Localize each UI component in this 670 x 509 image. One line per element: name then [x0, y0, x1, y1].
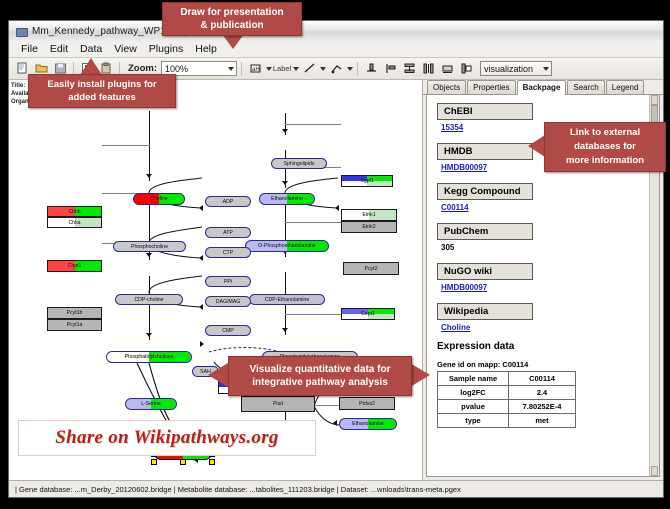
- node-label: CTP: [223, 250, 233, 256]
- arrow-icon: [200, 341, 204, 347]
- scroll-down-arrow[interactable]: [651, 466, 658, 476]
- db-link-kegg[interactable]: C00114: [441, 203, 659, 212]
- stack-vertical-icon[interactable]: [400, 60, 418, 78]
- metabolite-l-serine-left[interactable]: L-Serine: [125, 398, 177, 410]
- metabolite-phosphocholine[interactable]: Phosphocholine: [113, 241, 186, 252]
- menu-item-data[interactable]: Data: [74, 42, 108, 56]
- metabolite-adp[interactable]: ADP: [205, 196, 251, 207]
- db-header-wikipedia: Wikipedia: [437, 303, 533, 320]
- callout-arrow-left-icon: [208, 363, 228, 387]
- node-label: L-Serine: [141, 401, 161, 407]
- arrow-icon: [199, 205, 203, 211]
- db-value-pubchem: 305: [441, 243, 659, 252]
- zoom-label: Zoom:: [128, 63, 157, 74]
- selection-handle-s[interactable]: [180, 459, 186, 465]
- callout-arrow-left-icon: [528, 135, 545, 157]
- metabolite-dag-mag[interactable]: DAG/MAG: [205, 296, 251, 307]
- callout-line1: Easily install plugins for: [47, 78, 156, 91]
- menu-bar: File Edit Data View Plugins Help: [9, 41, 663, 58]
- node-label: Pcyt1a: [67, 322, 83, 328]
- arrow-icon: [199, 255, 203, 261]
- metabolite-ethanolamine-top[interactable]: Ethanolamine: [259, 193, 315, 205]
- status-text: | Gene database: ...m_Derby_20120602.bri…: [15, 485, 461, 494]
- chevron-down-icon[interactable]: [266, 67, 272, 71]
- node-label: Pcyt1b: [67, 310, 83, 316]
- node-label: Phosphatidylcholines: [125, 354, 174, 360]
- metabolite-ppi[interactable]: PPi: [205, 276, 251, 287]
- node-label: Sgpl1: [360, 178, 373, 184]
- metabolite-o-phosphoethanolamine[interactable]: O-Phosphoethanolamine: [245, 240, 329, 252]
- node-label: Etnk2: [362, 224, 375, 230]
- node-label: Ethanolamine: [352, 421, 384, 427]
- expr-value-sample-name: C00114: [509, 372, 576, 386]
- node-label: Phosphocholine: [131, 244, 168, 250]
- db-link-wikipedia[interactable]: Choline: [441, 323, 659, 332]
- label-icon-text: Label: [273, 64, 291, 73]
- db-header-hmdb: HMDB: [437, 143, 533, 160]
- callout-share-on-wikipathways: Share on Wikipathways.org: [18, 420, 316, 456]
- expr-label-sample-name: Sample name: [438, 372, 509, 386]
- chevron-down-icon: [228, 67, 234, 71]
- gene-sgpl1[interactable]: Sgpl1: [341, 175, 393, 187]
- node-label: Sphingolipids: [284, 161, 315, 167]
- gene-pcyt1b[interactable]: Pcyt1b: [47, 307, 102, 319]
- menu-item-edit[interactable]: Edit: [44, 42, 74, 56]
- callout-line3: more information: [566, 154, 644, 168]
- share-text: Share on Wikipathways.org: [55, 427, 278, 449]
- toolbar-separator: [241, 62, 242, 76]
- metabolite-cdp-ethanolamine[interactable]: CDP-Ethanolamine: [249, 294, 325, 305]
- gene-cept1[interactable]: Cept1: [341, 308, 395, 320]
- order-icon[interactable]: [457, 60, 475, 78]
- zoom-value: 100%: [165, 64, 188, 74]
- pathvisio-app-icon: [15, 25, 27, 37]
- arrow-icon: [199, 304, 203, 310]
- node-label: Chkb: [68, 209, 80, 215]
- node-label: CDP-choline: [134, 297, 163, 303]
- callout-line2: & publication: [200, 19, 263, 32]
- callout-line2: databases for: [574, 140, 636, 154]
- expression-data-table: Sample name C00114 log2FC 2.4 pvalue 7.8…: [437, 371, 576, 428]
- status-bar: | Gene database: ...m_Derby_20120602.bri…: [9, 480, 663, 497]
- metabolite-cmp[interactable]: CMP: [205, 325, 251, 336]
- table-row: type met: [438, 414, 576, 428]
- node-label: O-Phosphoethanolamine: [258, 243, 315, 249]
- node-label: CDP-Ethanolamine: [265, 297, 309, 303]
- expr-label-log2fc: log2FC: [438, 386, 509, 400]
- node-label: Etnk1: [362, 212, 375, 218]
- selection-handle-se[interactable]: [209, 459, 215, 465]
- menu-item-file[interactable]: File: [15, 42, 44, 56]
- gene-pcyt2[interactable]: Pcyt2: [343, 262, 399, 275]
- expr-value-pvalue: 7.80252E-4: [509, 400, 576, 414]
- node-label: Choline: [150, 196, 168, 202]
- expression-data-heading: Expression data: [437, 341, 659, 352]
- node-label: Ethanolamine: [271, 196, 303, 202]
- callout-line1: Link to external: [570, 126, 640, 140]
- expr-label-pvalue: pvalue: [438, 400, 509, 414]
- menu-item-help[interactable]: Help: [189, 42, 223, 56]
- align-top-icon[interactable]: [362, 60, 380, 78]
- db-link-nugowiki[interactable]: HMDB00097: [441, 283, 659, 292]
- metabolite-choline-top[interactable]: Choline: [133, 193, 185, 205]
- chevron-down-icon[interactable]: [320, 67, 326, 71]
- arrow-icon: [335, 205, 339, 211]
- visualization-combobox[interactable]: visualization: [480, 61, 552, 76]
- node-label: ADP: [223, 199, 234, 205]
- db-header-chebi: ChEBI: [437, 103, 533, 120]
- tab-properties[interactable]: Properties: [467, 80, 515, 94]
- callout-draw-for-presentation: Draw for presentation & publication: [162, 2, 302, 36]
- node-label: ATP: [223, 230, 233, 236]
- metabolite-atp[interactable]: ATP: [205, 227, 251, 238]
- expr-value-type: met: [509, 414, 576, 428]
- gene-etnk2[interactable]: Etnk2: [341, 221, 397, 233]
- gene-chpt1[interactable]: Chpt1: [47, 260, 102, 272]
- window-title-bar: Mm_Kennedy_pathway_WP1771_45176.gpml: [9, 21, 663, 42]
- expr-value-log2fc: 2.4: [509, 386, 576, 400]
- table-row: log2FC 2.4: [438, 386, 576, 400]
- tab-legend[interactable]: Legend: [606, 80, 645, 94]
- gene-pcyt1a[interactable]: Pcyt1a: [47, 319, 102, 331]
- gene-chkb[interactable]: Chkb: [47, 206, 102, 217]
- callout-arrow-up-icon: [80, 58, 102, 75]
- gene-ptdss2[interactable]: Ptdss2: [339, 397, 395, 410]
- callout-link-to-external-databases: Link to external databases for more info…: [544, 122, 666, 172]
- node-label: Pisd: [273, 401, 283, 407]
- screenshot-root: Mm_Kennedy_pathway_WP1771_45176.gpml Fil…: [0, 0, 670, 509]
- side-panel-tabs: Objects Properties Backpage Search Legen…: [423, 80, 663, 95]
- group-icon[interactable]: [438, 60, 456, 78]
- datanode-icon[interactable]: aH: [246, 60, 264, 78]
- node-label: Pcyt2: [365, 266, 378, 272]
- callout-line2: integrative pathway analysis: [252, 376, 388, 389]
- node-label: Chka: [68, 220, 80, 226]
- node-label: Chpt1: [68, 263, 82, 269]
- scroll-up-arrow[interactable]: [651, 95, 658, 105]
- node-label: Ptdss2: [359, 401, 375, 407]
- callout-visualize-quantitative-data: Visualize quantitative data for integrat…: [228, 356, 412, 396]
- chevron-down-icon[interactable]: [293, 67, 299, 71]
- visualization-value: visualization: [484, 64, 533, 74]
- table-row: Sample name C00114: [438, 372, 576, 386]
- node-label: CMP: [222, 328, 234, 334]
- metabolite-ctp[interactable]: CTP: [205, 247, 251, 258]
- tab-search[interactable]: Search: [567, 80, 604, 94]
- menu-item-view[interactable]: View: [108, 42, 143, 56]
- metabolite-cdp-choline[interactable]: CDP-choline: [115, 294, 183, 305]
- metabolite-sphingolipids[interactable]: Sphingolipids: [271, 158, 327, 169]
- metabolite-ethanolamine-bottom[interactable]: Ethanolamine: [339, 418, 397, 430]
- callout-arrow-down-icon: [222, 34, 244, 49]
- gene-pisd[interactable]: Pisd: [241, 396, 315, 412]
- metabolite-phosphatidylcholines[interactable]: Phosphatidylcholines: [106, 351, 192, 363]
- callout-line2: added features: [68, 91, 136, 104]
- callout-line1: Draw for presentation: [180, 6, 283, 19]
- label-icon[interactable]: Label: [273, 60, 291, 78]
- align-left-icon[interactable]: [381, 60, 399, 78]
- interaction-icon[interactable]: [327, 60, 345, 78]
- callout-easily-install-plugins: Easily install plugins for added feature…: [28, 74, 176, 108]
- arrow-icon: [333, 420, 337, 426]
- node-label: DAG/MAG: [216, 299, 241, 305]
- node-label: PPi: [224, 279, 232, 285]
- db-header-pubchem: PubChem: [437, 223, 533, 240]
- menu-item-plugins[interactable]: Plugins: [143, 42, 189, 56]
- callout-arrow-right-icon: [410, 363, 430, 387]
- svg-text:aH: aH: [252, 67, 260, 73]
- gene-id-on-mapp: Gene id on mapp: C00114: [437, 360, 659, 369]
- gene-chka[interactable]: Chka: [47, 217, 102, 228]
- toolbar-separator: [357, 62, 358, 76]
- chevron-down-icon: [543, 67, 549, 71]
- db-header-kegg: Kegg Compound: [437, 183, 533, 200]
- expr-label-type: type: [438, 414, 509, 428]
- chevron-down-icon[interactable]: [347, 67, 353, 71]
- selection-handle-sw[interactable]: [151, 459, 157, 465]
- tab-objects[interactable]: Objects: [427, 80, 466, 94]
- callout-line1: Visualize quantitative data for: [250, 363, 391, 376]
- distribute-icon[interactable]: [419, 60, 437, 78]
- node-label: Cept1: [361, 311, 375, 317]
- db-header-nugowiki: NuGO wiki: [437, 263, 533, 280]
- gene-etnk1[interactable]: Etnk1: [341, 209, 397, 221]
- tab-backpage[interactable]: Backpage: [517, 80, 567, 95]
- line-icon[interactable]: [300, 60, 318, 78]
- table-row: pvalue 7.80252E-4: [438, 400, 576, 414]
